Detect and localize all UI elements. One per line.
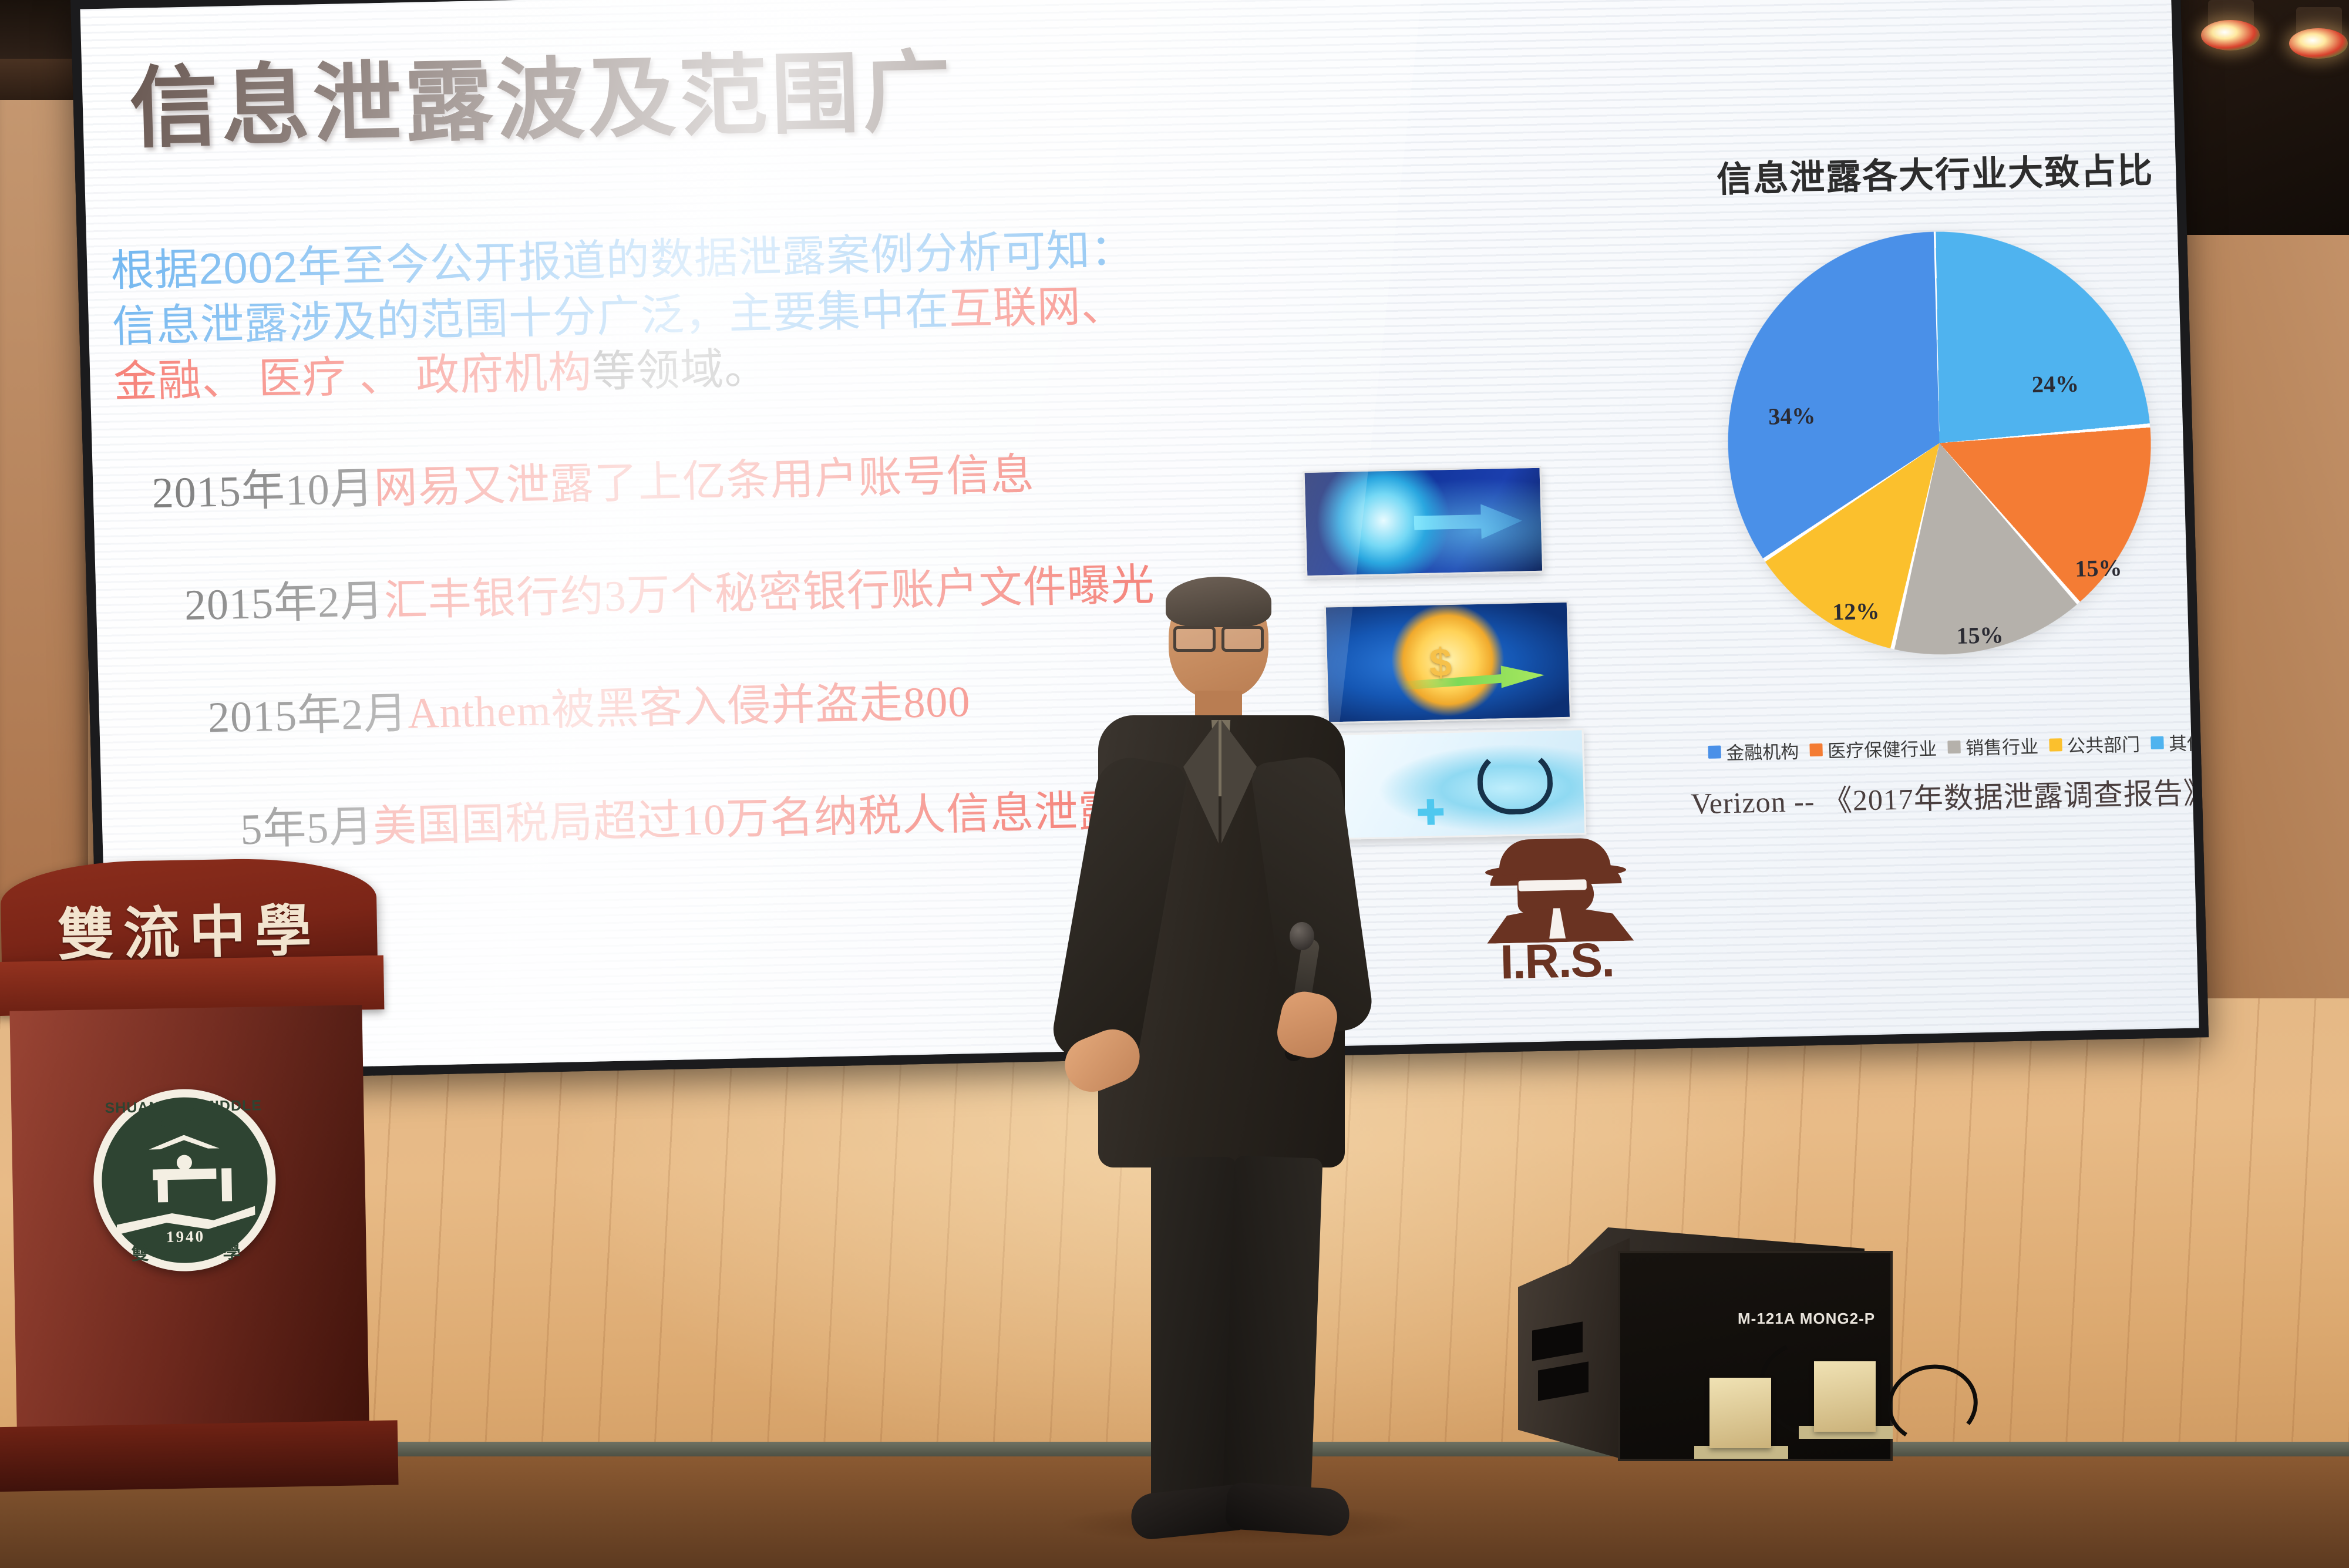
pie-label-24: 24% [2031,370,2079,399]
emblem-figure-legs [157,1168,232,1202]
stage-light-icon-3 [2201,20,2260,51]
pie-label-12: 12% [1832,597,1880,626]
bullet-1-date: 2015年10月 [152,465,375,517]
legend-swatch-2 [1947,740,1961,753]
intro-line-3-blue: 等领域。 [591,344,769,396]
bullet-3-date: 2015年2月 [207,689,408,742]
fedora-hat-icon [1499,837,1611,875]
chart-source-citation: Verizon -- 《2017年数据泄露调查报告》 [1658,769,2199,823]
monitor-vent-1 [1532,1321,1583,1361]
pie-graphic [1722,227,2156,659]
stage-light-icon-4 [2289,28,2348,59]
slide-intro-paragraph: 根据2002年至今公开报道的数据泄露案例分析可知： 信息泄露涉及的范围十分广泛，… [110,218,1347,410]
legend-item-1: 医疗保健行业 [1809,734,1937,763]
pie-label-15-orange: 15% [2075,554,2122,583]
pie-label-15-gray: 15% [1956,621,2004,650]
emblem-english-text: SHUANGLIU MIDDLE SCHOOL [92,1097,275,1134]
growth-arrow-icon [1399,654,1545,692]
monitor-side-face [1518,1238,1630,1461]
microphone-icon [1290,922,1314,950]
legend-item-0: 金融机构 [1708,737,1799,765]
presenter-hair [1166,577,1271,627]
podium-header-board: 雙流中學 [0,857,378,969]
podium-base [0,1420,399,1492]
irs-logo: I.R.S. [1465,831,1645,990]
floor-outlet-plate-1 [1709,1378,1771,1448]
chart-legend: 金融机构 医疗保健行业 销售行业 公共部门 [1663,728,2199,766]
lectern-podium: 雙流中學 SHUANGLIU MIDDLE SCHOOL 1940 雙流中學 [0,857,387,1509]
eyeglasses-icon [1173,626,1264,646]
globe-internet-image [1303,466,1544,577]
monitor-vent-2 [1538,1361,1589,1401]
bullet-2-text: 汇丰银行约3万个秘密银行账户文件曝光 [383,561,1156,625]
stethoscope-icon [1476,747,1553,815]
legend-swatch-3 [2049,738,2062,751]
legend-item-3: 公共部门 [2048,729,2140,758]
legend-item-4: 其他 [2150,728,2199,756]
floor-outlet-plate-2 [1814,1361,1876,1432]
bullet-4-date: 5年5月 [240,803,373,854]
auditorium-stage-scene: 信息泄露波及范围广 根据2002年至今公开报道的数据泄露案例分析可知： 信息泄露… [0,0,2349,1568]
presenter-leg-left [1151,1157,1236,1503]
bullet-2-date: 2015年2月 [184,577,385,630]
legend-swatch-1 [1809,743,1823,756]
pie-label-34: 34% [1768,402,1816,430]
monitor-model-label: M-121A MONG2-P [1738,1310,1875,1328]
pie-slice-separators [1722,227,2156,659]
chart-title: 信息泄露各大行业大致占比 [1641,140,2199,204]
intro-line-3-red: 金融、 医疗 、 政府机构 [113,348,593,406]
presenter-leg-right [1223,1156,1323,1511]
bullet-3-text: Anthem被黑客入侵并盗走800 [407,678,971,738]
presenter-shoe-right [1224,1482,1351,1537]
industry-share-pie-chart: 信息泄露各大行业大致占比 24% 34% 15% 15% 12% 金融机构 医疗… [1641,140,2199,963]
arrow-icon [1414,503,1523,540]
emblem-figure-head [177,1155,192,1170]
legend-label-0: 金融机构 [1726,737,1799,765]
legend-label-1: 医疗保健行业 [1828,734,1937,763]
school-emblem: SHUANGLIU MIDDLE SCHOOL 1940 雙流中學 [92,1088,277,1273]
legend-label-2: 销售行业 [1965,732,2038,760]
slide-title: 信息泄露波及范围广 [128,21,956,165]
legend-swatch-0 [1708,745,1721,758]
bullet-1-text: 网易又泄露了上亿条用户账号信息 [373,451,1035,513]
bullet-4-text: 美国国税局超过10万名纳税人信息泄露 [372,788,1123,852]
irs-label: I.R.S. [1468,932,1645,991]
legend-label-4: 其他 [2168,728,2199,755]
presenter-person [1075,581,1380,1556]
emblem-gate-icon [149,1135,220,1206]
stage-monitor-speaker: M-121A MONG2-P [1518,1227,1929,1474]
emblem-chinese-text: 雙流中學 [95,1237,277,1266]
legend-item-2: 销售行业 [1947,732,2038,760]
legend-label-3: 公共部门 [2067,729,2140,758]
intro-line-2-red: 互联网、 [948,281,1126,333]
legend-swatch-4 [2151,736,2164,749]
emblem-roof [149,1135,220,1156]
medical-cross-icon [1418,799,1444,825]
spy-silhouette-icon [1480,832,1630,940]
sunglasses-icon [1518,879,1586,891]
